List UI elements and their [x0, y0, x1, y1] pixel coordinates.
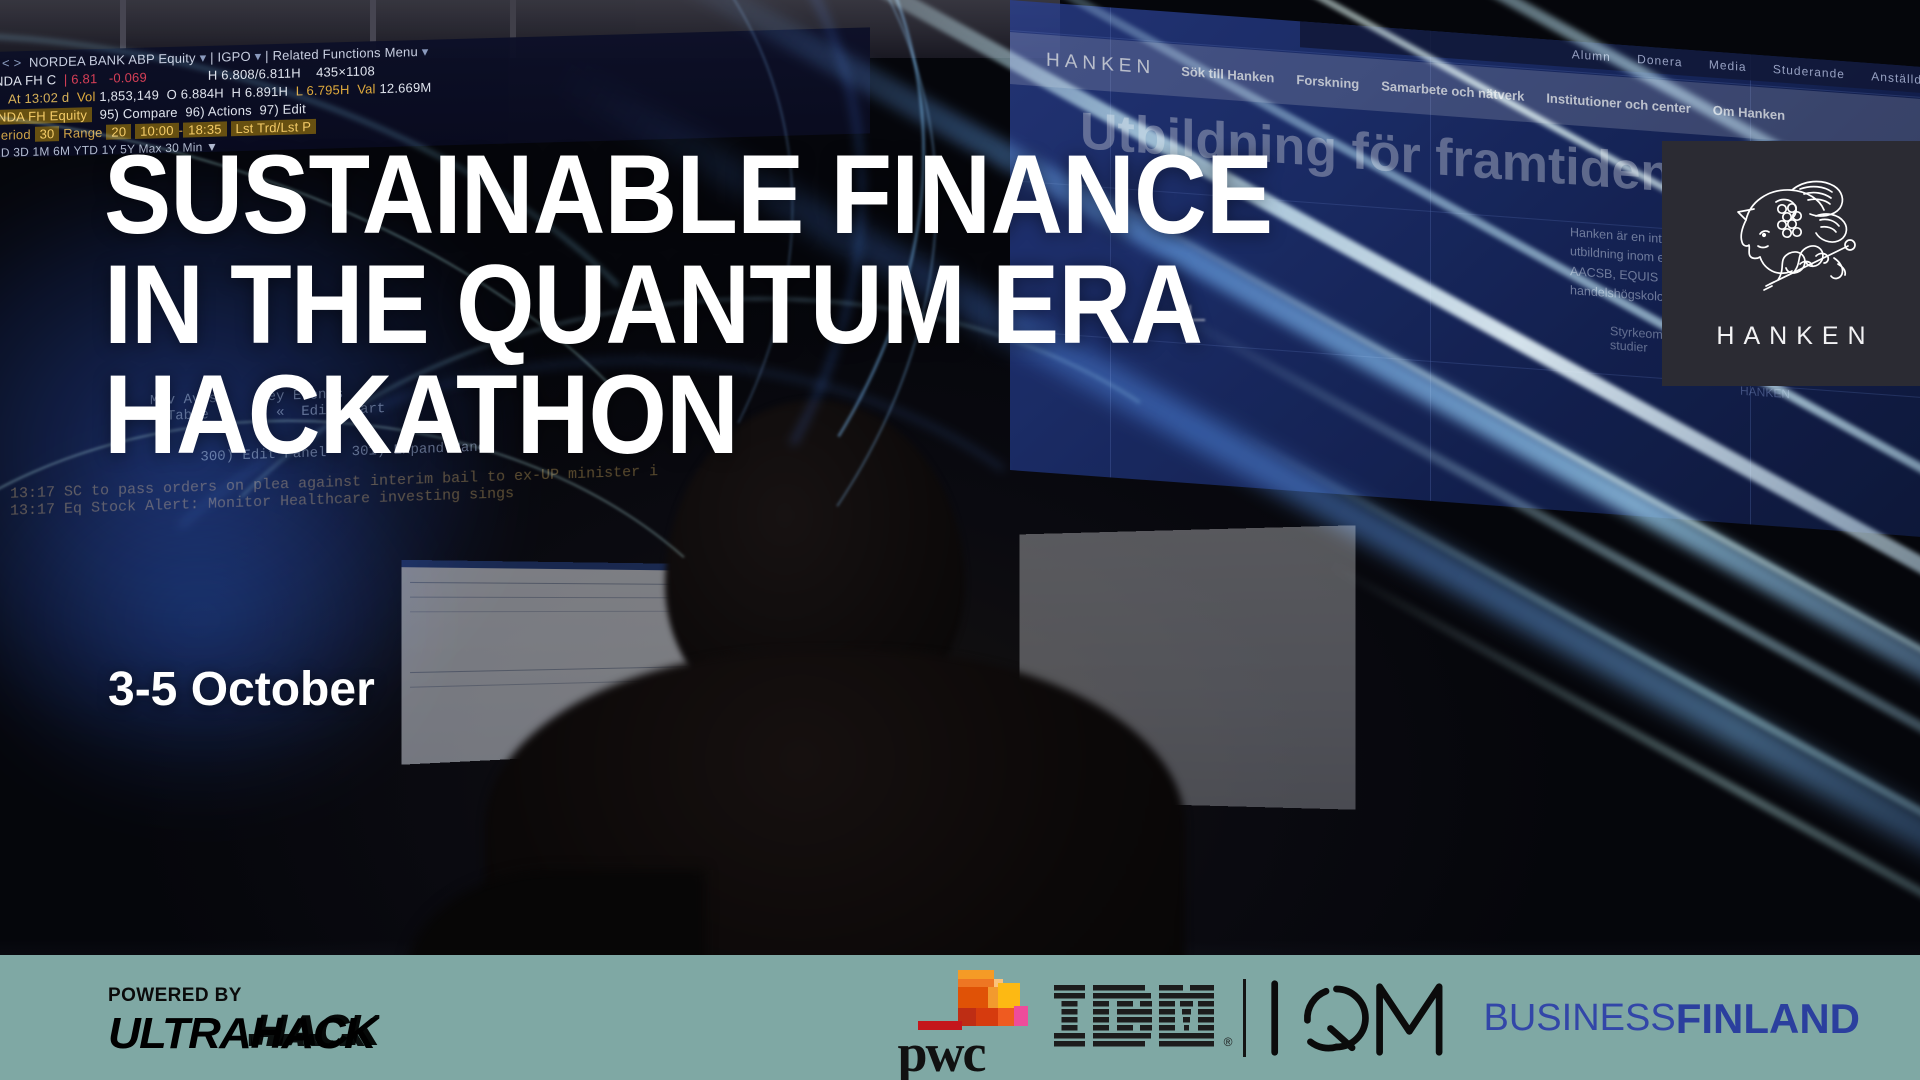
- event-poster: Alumn Donera Media Studerande Anställd H…: [0, 0, 1920, 1080]
- logo-divider: [1243, 979, 1246, 1057]
- ibm-registered-mark: ®: [1224, 1035, 1233, 1049]
- title-line-2: IN THE QUANTUM ERA: [104, 250, 1409, 360]
- sponsor-ibm: ®: [1054, 985, 1219, 1051]
- business-finland-line2: FINLAND: [1676, 998, 1860, 1040]
- sponsor-iqm: [1268, 979, 1454, 1057]
- hanken-wordmark: HANKEN: [1707, 322, 1874, 351]
- business-finland-line1: BUSINESS: [1484, 999, 1676, 1037]
- page-title: SUSTAINABLE FINANCE IN THE QUANTUM ERA H…: [104, 140, 1409, 469]
- pwc-wordmark: pwc: [898, 1022, 985, 1080]
- sponsor-pwc: pwc: [898, 964, 1038, 1072]
- title-line-1: SUSTAINABLE FINANCE: [104, 140, 1409, 250]
- hanken-logo-box: HANKEN: [1662, 141, 1920, 386]
- powered-by-ultrahack: POWERED BY ULTRAHACK ULTRAHACK ULTRAHACK: [108, 985, 367, 1059]
- ibm-logo-icon: [1054, 985, 1219, 1051]
- hanken-mercury-icon: [1716, 176, 1866, 304]
- ultrahack-wordmark: ULTRAHACK ULTRAHACK ULTRAHACK: [108, 1009, 375, 1059]
- title-line-3: HACKATHON: [104, 360, 1409, 470]
- iqm-logo-icon: [1268, 979, 1454, 1057]
- pwc-blocks-icon: [936, 970, 1028, 1028]
- event-date: 3-5 October: [108, 662, 375, 717]
- sponsor-business-finland: BUSINESS FINLAND: [1484, 996, 1860, 1040]
- sponsor-logos: pwc: [898, 955, 1860, 1080]
- powered-by-label: POWERED BY: [108, 985, 367, 1007]
